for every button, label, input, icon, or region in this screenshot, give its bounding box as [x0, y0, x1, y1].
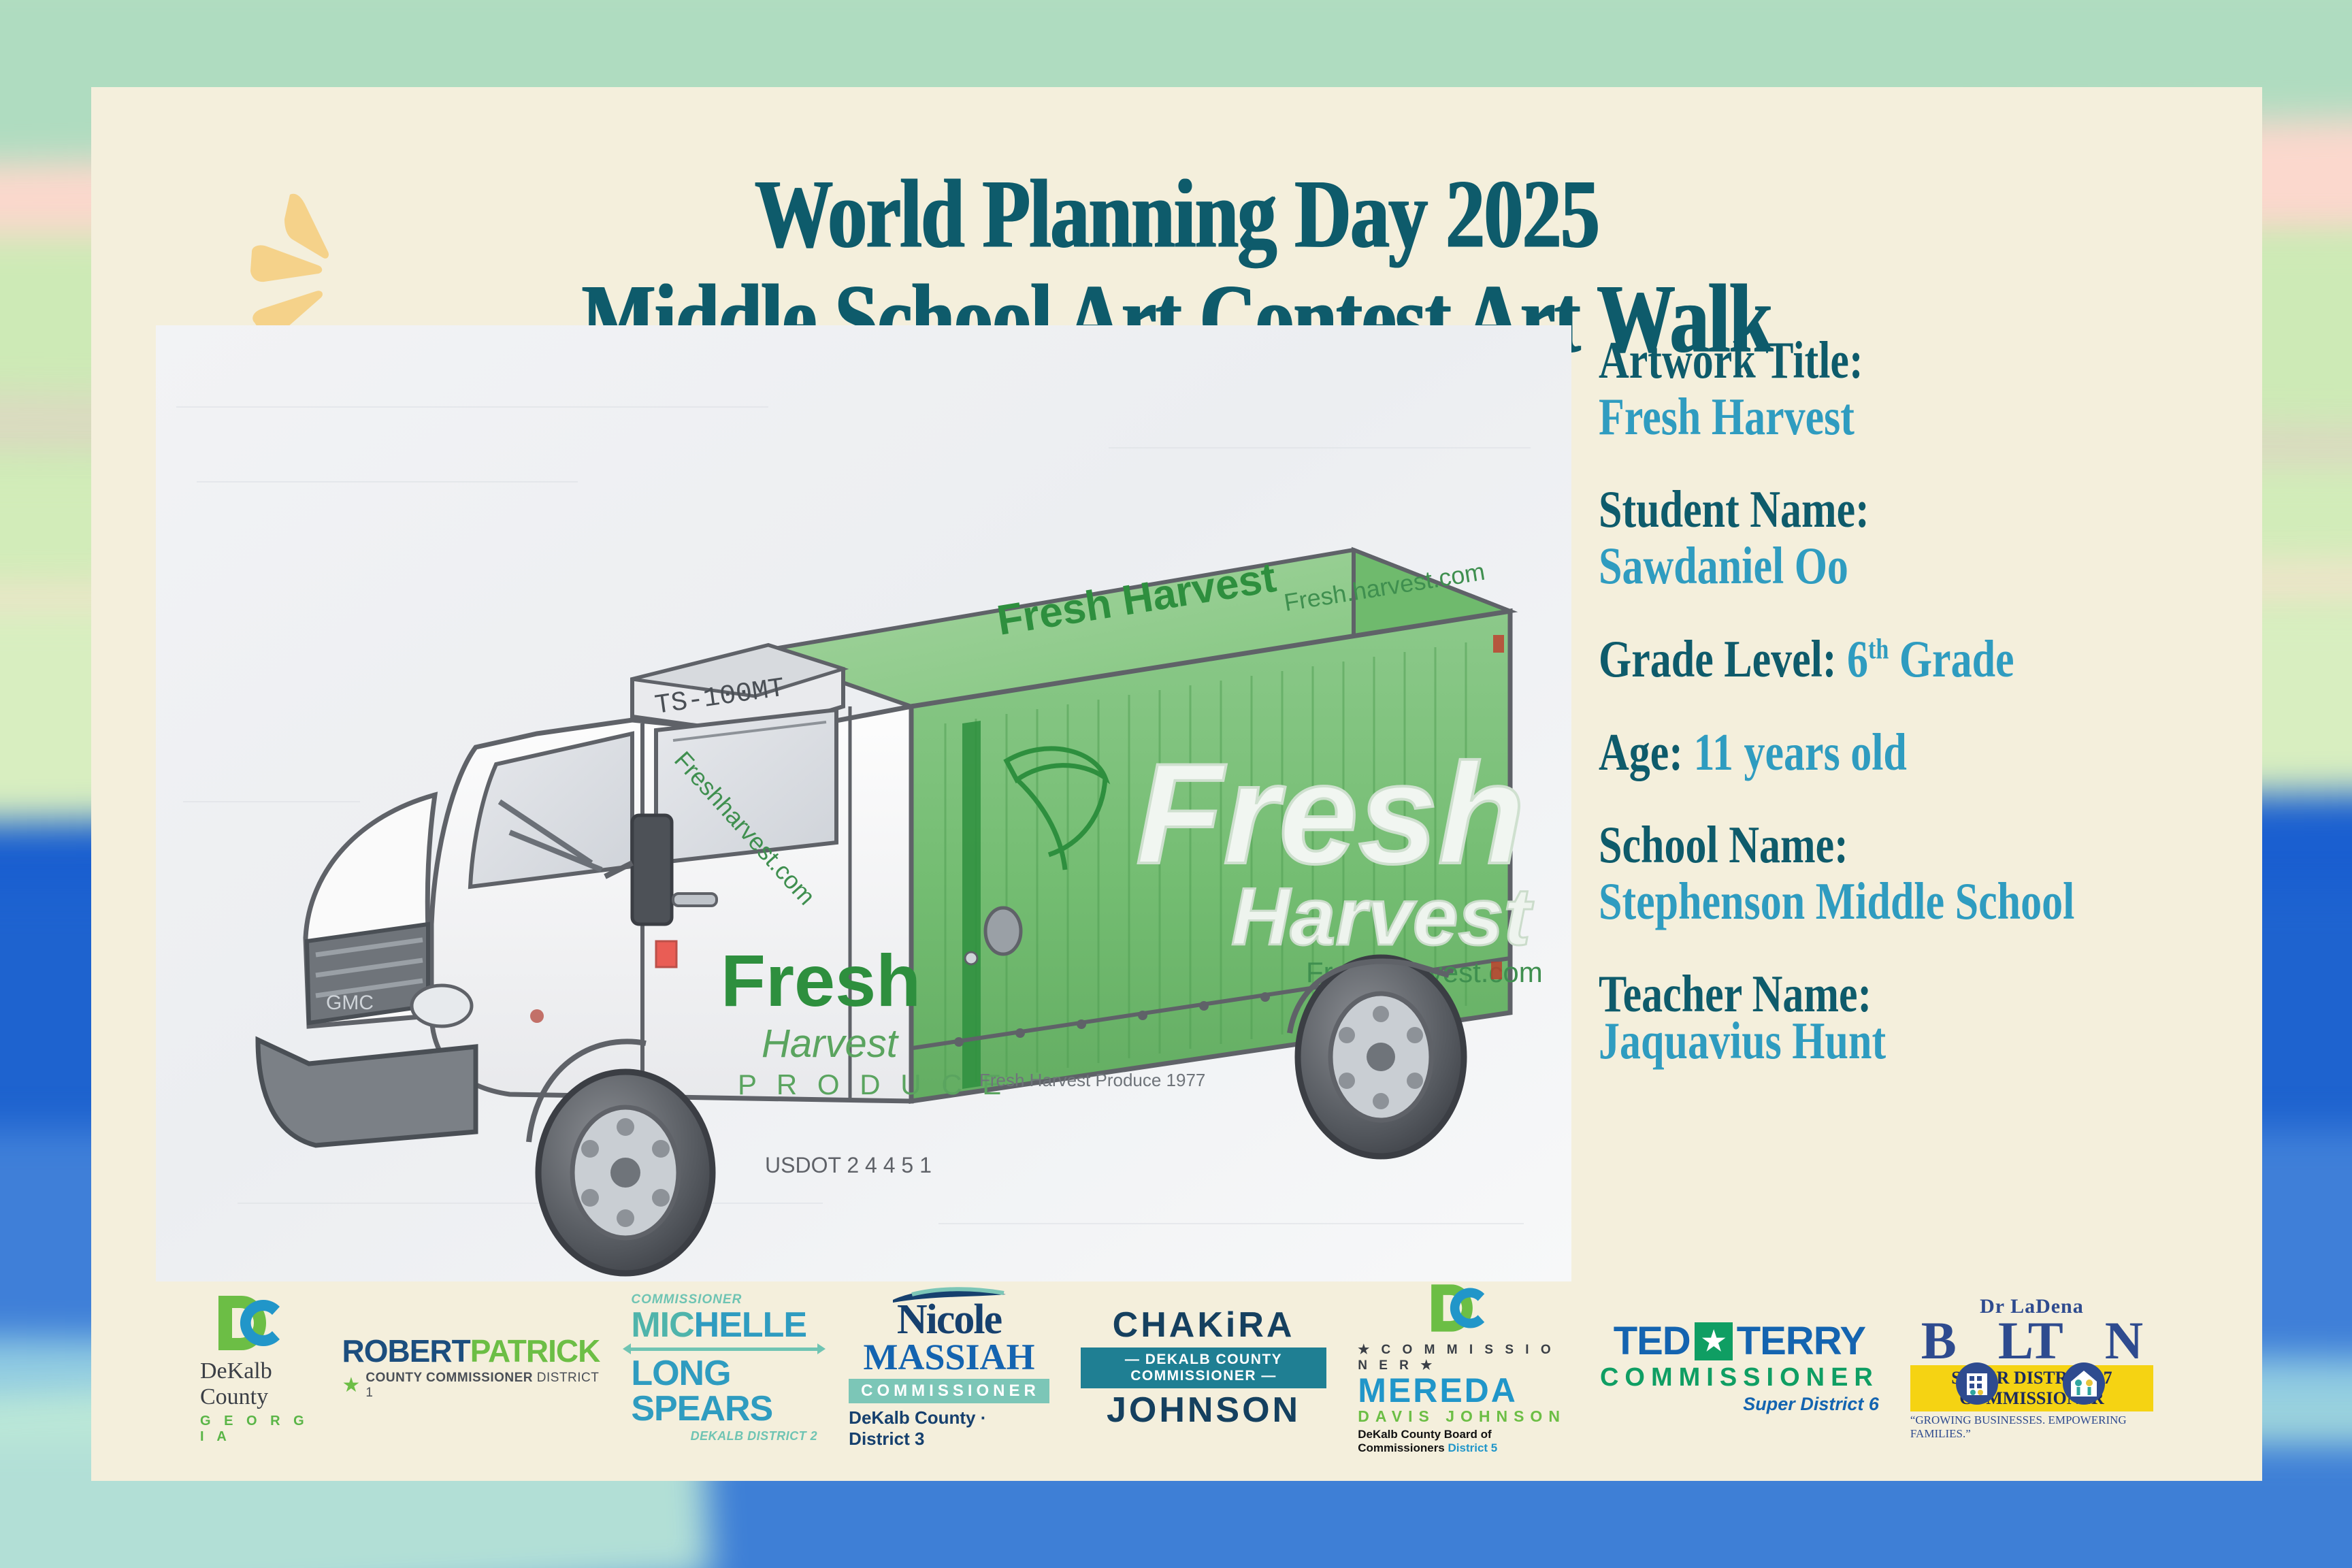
logo-nicole-massiah: Nicole MASSIAH COMMISSIONER DeKalb Count… [849, 1286, 1049, 1449]
mls-last: LONG SPEARS [631, 1356, 817, 1426]
mereda-district: District 5 [1448, 1441, 1497, 1454]
ted-terry-district: Super District 6 [1743, 1394, 1879, 1415]
mls-district: DEKALB DISTRICT 2 [691, 1429, 818, 1443]
artwork-text-usdot: USDOT 2 4 4 5 1 [765, 1153, 932, 1177]
robert-patrick-role: COUNTY COMMISSIONER [365, 1371, 533, 1385]
mereda-eyebrow: C O M M I S S I O N E R [1358, 1343, 1554, 1373]
artwork-text-harvest: Harvest [1231, 871, 1534, 962]
ted-terry-last: TERRY [1737, 1322, 1865, 1361]
dc-monogram-icon [214, 1292, 296, 1354]
age-value: 11 years old [1693, 724, 1906, 781]
artwork-text-lower-scribble: Fresh Harvest Produce 1977 [979, 1070, 1205, 1090]
school-name-label: School Name: [1599, 817, 2252, 875]
logo-dekalb-county: DeKalb County G E O R G I A [200, 1292, 310, 1445]
artwork-text-cab-fresh: Fresh [721, 939, 921, 1022]
nicole-massiah-first: Nicole [897, 1300, 1001, 1340]
robert-patrick-names: ROBERTPATRICK [342, 1335, 600, 1367]
info-row-age: Age: 11 years old [1599, 723, 2252, 783]
artwork-title-label: Artwork Title: [1599, 332, 2252, 391]
student-name-label: Student Name: [1599, 481, 2252, 540]
mls-first-a: MIC [631, 1305, 693, 1345]
artwork-info-panel: Artwork Title: Fresh Harvest Student Nam… [1599, 332, 2252, 1090]
info-row-teacher-name: Teacher Name: Jaquavius Hunt [1599, 966, 2252, 1060]
chakira-johnson-first: CHAKiRA [1113, 1307, 1295, 1343]
star-icon: ★ [342, 1375, 360, 1396]
nicole-massiah-last: MASSIAH [863, 1340, 1034, 1375]
dekalb-county-state: G E O R G I A [200, 1414, 310, 1445]
artwork-text-cab-produce: P R O D U C E [738, 1068, 1007, 1100]
mereda-surname: DAVIS JOHNSON [1358, 1407, 1566, 1426]
grade-level-value: 6th Grade [1847, 631, 2014, 688]
logo-ladena-bolton: Dr LaDena B LT N [1910, 1295, 2153, 1440]
artwork-image: Fresh Harvest Fresh.harvest.com Fresh Ha… [156, 325, 1571, 1281]
dc-monogram-icon [1428, 1281, 1499, 1335]
logo-mereda-davis-johnson: ★ C O M M I S S I O N E R ★ MEREDA DAVIS… [1358, 1281, 1569, 1455]
bolton-name: B LT N [1921, 1318, 2142, 1363]
logo-robert-patrick: ROBERTPATRICK ★ COUNTY COMMISSIONER DIST… [342, 1335, 600, 1401]
page-title: World Planning Day 2025 Middle School Ar… [91, 162, 2262, 353]
artwork-title-value: Fresh Harvest [1599, 389, 2252, 447]
ted-terry-role: COMMISSIONER [1600, 1363, 1879, 1392]
grade-ordinal-suffix: th [1868, 634, 1889, 665]
nicole-massiah-role: COMMISSIONER [849, 1379, 1049, 1403]
star-icon: ★ [1695, 1322, 1733, 1360]
mereda-name: MEREDA [1358, 1373, 1518, 1407]
star-icon: ★ [1420, 1358, 1436, 1373]
school-name-value: Stephenson Middle School [1599, 873, 2252, 932]
house-family-icon [2063, 1362, 2105, 1405]
robert-patrick-first: ROBERT [342, 1333, 470, 1369]
grade-level-label: Grade Level: [1599, 631, 1837, 688]
logo-ted-terry: TED ★ TERRY COMMISSIONER Super District … [1600, 1322, 1879, 1415]
info-row-student-name: Student Name: Sawdaniel Oo [1599, 481, 2252, 585]
mls-first-b: HELLE [694, 1305, 806, 1345]
artwork-text-fresh: Fresh [1136, 734, 1525, 894]
chakira-johnson-last: JOHNSON [1107, 1392, 1301, 1428]
chakira-johnson-role: — DEKALB COUNTY COMMISSIONER — [1081, 1347, 1326, 1388]
info-row-artwork-title: Artwork Title: Fresh Harvest [1599, 332, 2252, 436]
info-row-grade-level: Grade Level: 6th Grade [1599, 630, 2252, 690]
age-label: Age: [1599, 724, 1683, 781]
teacher-name-value: Jaquavius Hunt [1599, 1013, 2252, 1071]
bolton-tagline: “GROWING BUSINESSES. EMPOWERING FAMILIES… [1910, 1414, 2153, 1441]
logo-michelle-long-spears: COMMISSIONER MICHELLE LONG SPEARS DEKALB… [631, 1292, 817, 1443]
robert-patrick-last: PATRICK [470, 1333, 600, 1369]
nicole-massiah-district: DeKalb County · District 3 [849, 1407, 1049, 1450]
info-row-school-name: School Name: Stephenson Middle School [1599, 817, 2252, 921]
star-icon: ★ [1358, 1343, 1373, 1357]
ted-terry-first: TED [1614, 1322, 1690, 1361]
poster-card: World Planning Day 2025 Middle School Ar… [91, 87, 2262, 1481]
mls-divider-icon [631, 1347, 817, 1351]
bolton-role: SUPER DISTRICT 7 COMMISSIONER [1910, 1365, 2153, 1411]
sponsor-logo-row: DeKalb County G E O R G I A ROBERTPATRIC… [91, 1281, 2262, 1455]
logo-chakira-johnson: CHAKiRA — DEKALB COUNTY COMMISSIONER — J… [1081, 1307, 1326, 1428]
student-name-value: Sawdaniel Oo [1599, 538, 2252, 596]
title-line-1: World Planning Day 2025 [124, 162, 2229, 267]
artwork-text-cab-harvest: Harvest [762, 1022, 900, 1066]
truck-drawing: Fresh Harvest Fresh.harvest.com Fresh Ha… [156, 325, 1571, 1281]
artwork-text-grille: GMC [326, 992, 374, 1014]
dekalb-county-name: DeKalb County [200, 1358, 310, 1410]
house-building-icon [1956, 1362, 1998, 1405]
